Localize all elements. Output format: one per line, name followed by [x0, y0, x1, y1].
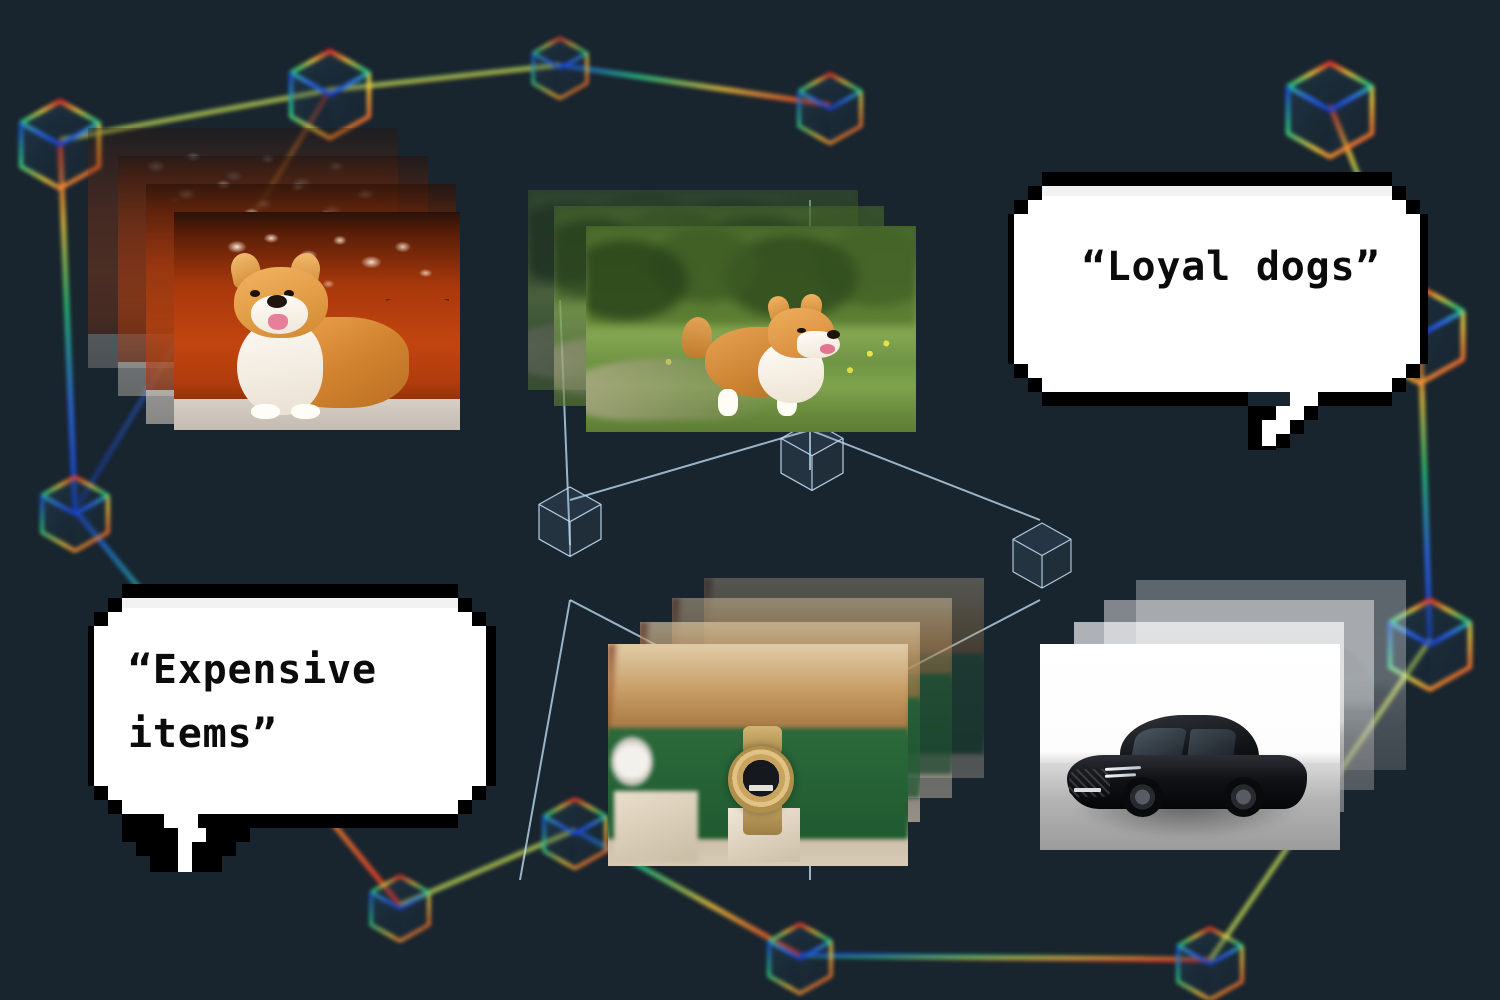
canvas-root: “Loyal dogs”	[0, 0, 1500, 1000]
wire-cube	[539, 487, 601, 556]
photo-layer-front	[608, 644, 908, 866]
speech-bubble-shape	[1008, 148, 1428, 458]
speech-bubble-text: “Expensive items”	[128, 638, 458, 766]
photo-layer-front	[1040, 644, 1340, 850]
photo-layer-front	[174, 212, 460, 430]
photo-layer-front	[586, 226, 916, 432]
speech-bubble-text: “Loyal dogs”	[1056, 244, 1406, 290]
wire-cube	[1013, 523, 1071, 588]
photo-stack-corgi-running[interactable]	[528, 190, 920, 436]
speech-bubble-loyal-dogs[interactable]: “Loyal dogs”	[1008, 148, 1428, 458]
corgi-illustration	[586, 226, 916, 432]
suv-illustration	[1067, 722, 1307, 809]
speech-bubble-expensive-items[interactable]: “Expensive items”	[88, 578, 498, 878]
photo-stack-corgi-sitting[interactable]	[88, 128, 464, 432]
photo-stack-luxury-suv[interactable]	[1040, 580, 1376, 868]
corgi-illustration	[174, 212, 460, 430]
photo-stack-luxury-watch[interactable]	[608, 578, 942, 870]
